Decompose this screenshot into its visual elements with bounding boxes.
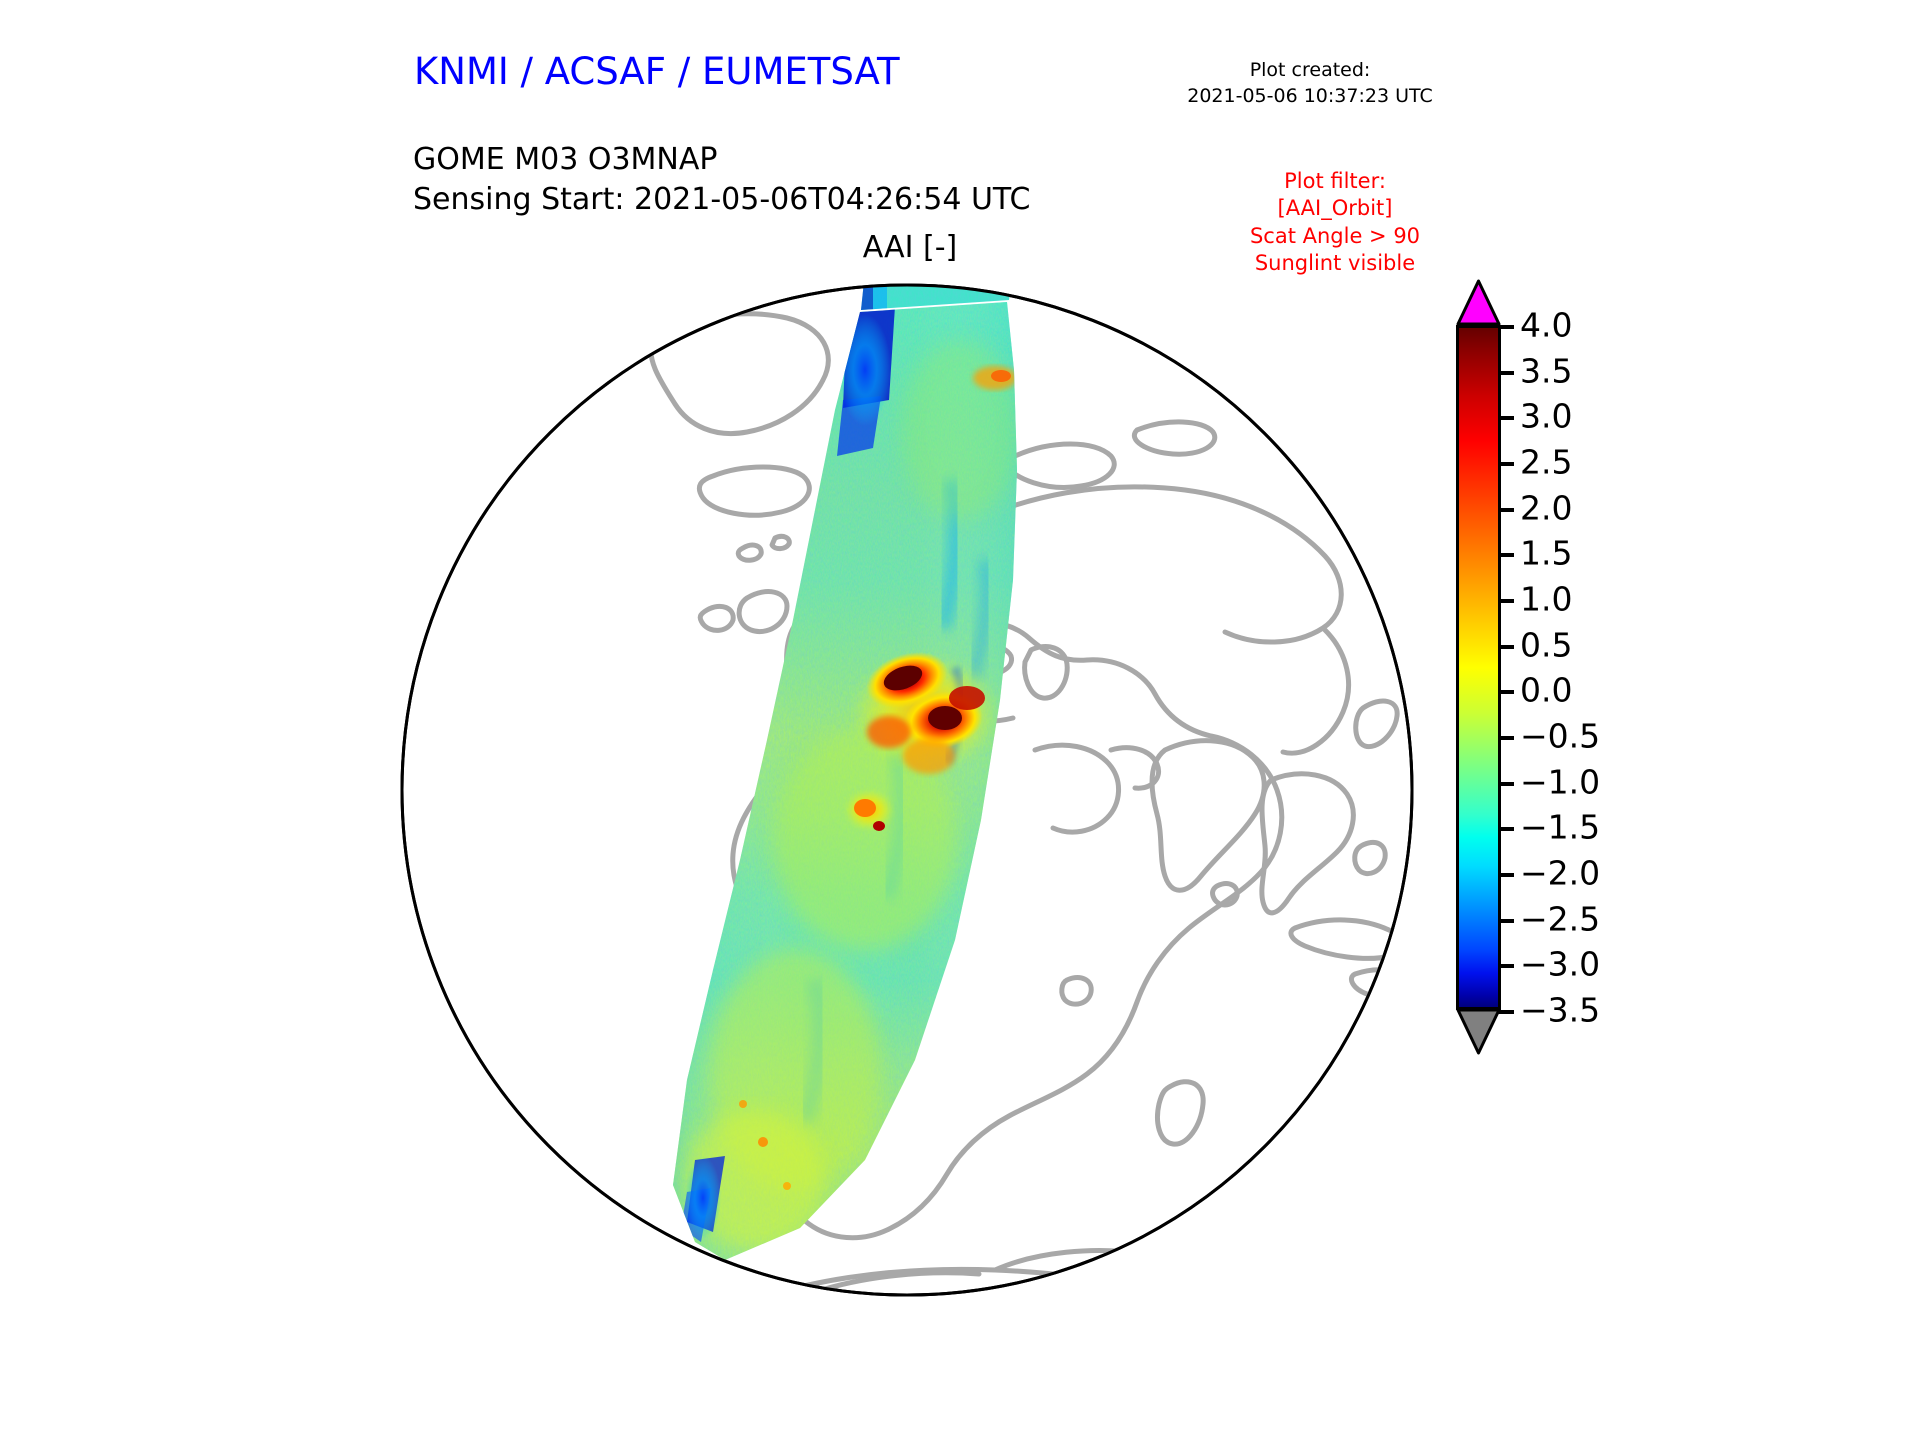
- organisations-title: KNMI / ACSAF / EUMETSAT: [414, 50, 900, 93]
- colorbar-label-12: −2.0: [1520, 854, 1600, 893]
- colorbar-tick-13: [1498, 919, 1514, 923]
- plot-filter-block: Plot filter: [AAI_Orbit] Scat Angle > 90…: [1190, 168, 1480, 277]
- plot-filter-title: Plot filter:: [1190, 168, 1480, 195]
- colorbar-tick-1: [1498, 371, 1514, 375]
- plot-created-label: Plot created:: [1160, 58, 1460, 84]
- colorbar-label-3: 2.5: [1520, 443, 1572, 482]
- colorbar-tick-7: [1498, 645, 1514, 649]
- plot-filter-line-0: [AAI_Orbit]: [1190, 195, 1480, 222]
- colorbar-tick-0: [1498, 325, 1514, 329]
- colorbar-label-8: 0.0: [1520, 671, 1572, 710]
- colorbar-tick-10: [1498, 782, 1514, 786]
- colorbar-label-4: 2.0: [1520, 488, 1572, 527]
- colorbar-tick-3: [1498, 462, 1514, 466]
- colorbar-tick-6: [1498, 599, 1514, 603]
- colorbar-tick-11: [1498, 827, 1514, 831]
- page-title: AAI [-]: [660, 230, 1160, 265]
- colorbar-label-1: 3.5: [1520, 351, 1572, 390]
- colorbar-label-2: 3.0: [1520, 397, 1572, 436]
- map-canvas[interactable]: [395, 280, 1425, 1300]
- colorbar-label-14: −3.0: [1520, 945, 1600, 984]
- colorbar-label-11: −1.5: [1520, 808, 1600, 847]
- colorbar-label-0: 4.0: [1520, 306, 1572, 345]
- colorbar-tick-4: [1498, 508, 1514, 512]
- colorbar-tick-5: [1498, 553, 1514, 557]
- dataset-block: GOME M03 O3MNAP Sensing Start: 2021-05-0…: [413, 140, 1030, 219]
- plot-created-timestamp: 2021-05-06 10:37:23 UTC: [1160, 84, 1460, 110]
- colorbar-tick-9: [1498, 736, 1514, 740]
- colorbar-under-arrow: [1456, 1008, 1501, 1056]
- plot-filter-line-2: Sunglint visible: [1190, 250, 1480, 277]
- colorbar[interactable]: 4.0 3.5 3.0 2.5 2.0 1.5 1.0 0.5 0.0 −0.5…: [1440, 280, 1840, 1100]
- colorbar-gradient: [1456, 325, 1501, 1010]
- plot-created-block: Plot created: 2021-05-06 10:37:23 UTC: [1160, 58, 1460, 109]
- colorbar-tick-8: [1498, 690, 1514, 694]
- colorbar-tick-12: [1498, 873, 1514, 877]
- colorbar-label-9: −0.5: [1520, 717, 1600, 756]
- sensing-start: Sensing Start: 2021-05-06T04:26:54 UTC: [413, 180, 1030, 220]
- colorbar-label-13: −2.5: [1520, 899, 1600, 938]
- colorbar-label-7: 0.5: [1520, 625, 1572, 664]
- orthographic-globe: [395, 280, 1425, 1300]
- colorbar-label-15: −3.5: [1520, 991, 1600, 1030]
- colorbar-tick-2: [1498, 416, 1514, 420]
- colorbar-over-arrow: [1456, 278, 1501, 326]
- colorbar-label-5: 1.5: [1520, 534, 1572, 573]
- colorbar-tick-15: [1498, 1010, 1514, 1014]
- dataset-name: GOME M03 O3MNAP: [413, 140, 1030, 180]
- colorbar-tick-14: [1498, 964, 1514, 968]
- colorbar-label-6: 1.0: [1520, 580, 1572, 619]
- colorbar-label-10: −1.0: [1520, 762, 1600, 801]
- plot-filter-line-1: Scat Angle > 90: [1190, 223, 1480, 250]
